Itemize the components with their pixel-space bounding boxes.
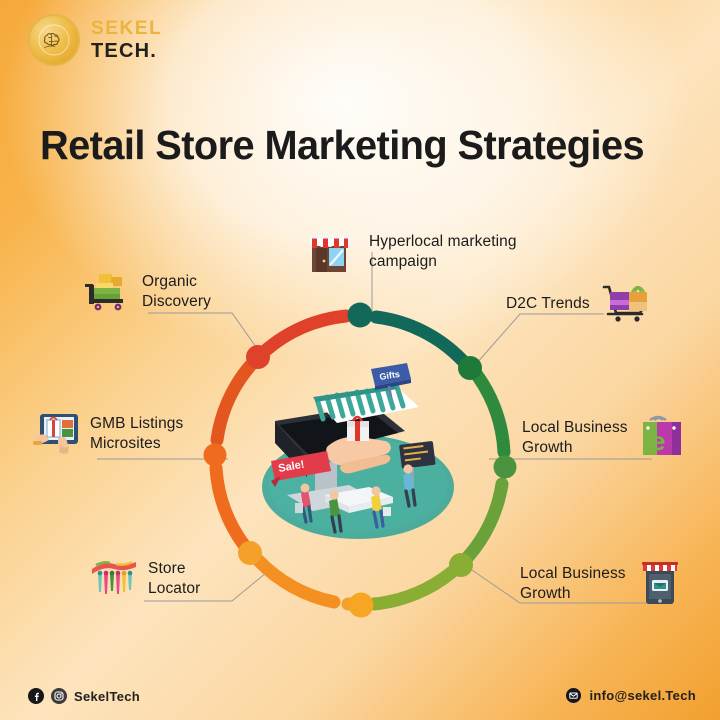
ring-node-bottom[interactable]: [349, 593, 374, 618]
center-illustration: Gifts Sale!: [253, 345, 468, 560]
callout-hyperlocal[interactable]: Hyperlocal marketing campaign: [303, 228, 517, 280]
ring-segment-light-green: [467, 484, 502, 558]
instagram-icon[interactable]: [51, 688, 67, 704]
isometric-online-store-shoppers-illustration: Gifts Sale!: [253, 345, 468, 560]
shopping-bag-e-icon: e: [636, 412, 688, 464]
footer-contact: info@sekel.Tech: [566, 688, 696, 703]
callout-local-business-growth-1-label: Local Business Growth: [522, 418, 628, 458]
tablet-hand-icon: [30, 408, 82, 460]
callout-local-business-growth-2-label: Local Business Growth: [520, 564, 626, 604]
callout-gmb-listings-label: GMB Listings Microsites: [90, 414, 183, 454]
ring-node-mid-left[interactable]: [204, 444, 227, 467]
footer-social: SekelTech: [28, 688, 140, 704]
callout-d2c-trends-label: D2C Trends: [506, 294, 590, 314]
trolley-boxes-icon: [82, 266, 134, 318]
mobile-storefront-icon: [634, 558, 686, 610]
email-icon[interactable]: [566, 688, 581, 703]
callout-store-locator-label: Store Locator: [148, 559, 200, 599]
strategy-ring: Gifts Sale!: [200, 290, 520, 620]
ring-segment-red-orange: [217, 366, 250, 440]
callout-hyperlocal-label: Hyperlocal marketing campaign: [369, 232, 517, 272]
footer-social-handle: SekelTech: [74, 689, 140, 704]
callout-store-locator[interactable]: Store Locator: [88, 553, 200, 605]
map-pins-icon: [88, 553, 140, 605]
ring-node-mid-right[interactable]: [494, 456, 517, 479]
facebook-icon[interactable]: [28, 688, 44, 704]
callout-local-business-growth-2[interactable]: Local Business Growth: [520, 558, 686, 610]
callout-d2c-trends[interactable]: D2C Trends: [506, 278, 650, 330]
ring-segment-green: [477, 375, 504, 452]
callout-organic-discovery-label: Organic Discovery: [142, 272, 211, 312]
ring-segment-olive: [374, 572, 452, 604]
callout-gmb-listings[interactable]: GMB Listings Microsites: [30, 408, 183, 460]
callout-local-business-growth-1[interactable]: Local Business Growth e: [522, 412, 688, 464]
ring-node-top[interactable]: [348, 303, 373, 328]
storefront-icon: [303, 228, 355, 280]
footer: SekelTech info@sekel.Tech: [0, 662, 720, 720]
ring-segment-orange: [216, 468, 244, 545]
callout-organic-discovery[interactable]: Organic Discovery: [82, 266, 211, 318]
svg-text:e: e: [651, 426, 665, 456]
ring-segment-amber: [259, 561, 334, 602]
shopping-cart-bags-icon: [598, 278, 650, 330]
footer-email: info@sekel.Tech: [589, 688, 696, 703]
infographic-canvas: SEKEL TECH. Retail Store Marketing Strat…: [0, 0, 720, 720]
